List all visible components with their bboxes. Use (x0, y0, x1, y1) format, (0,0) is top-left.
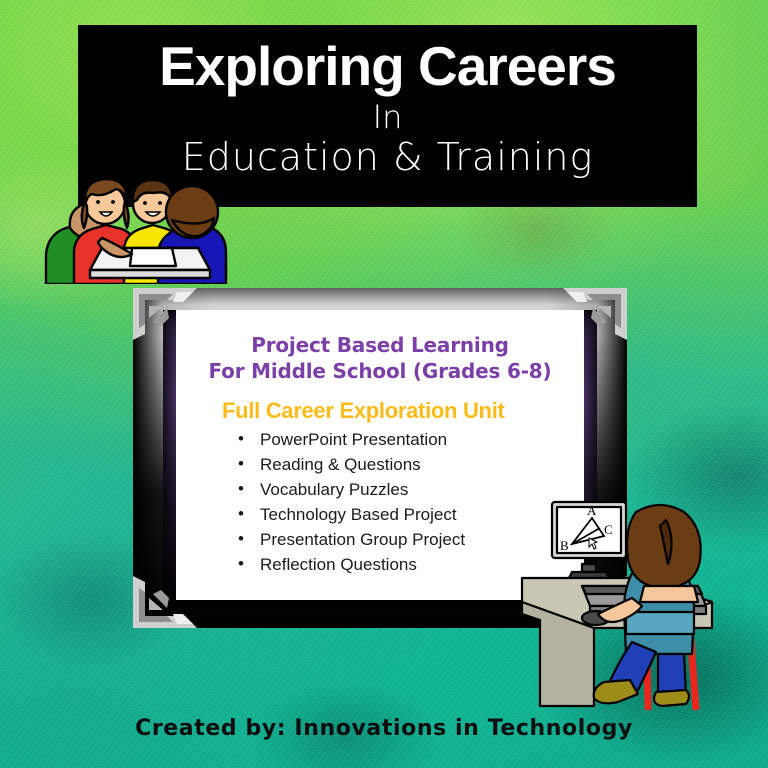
computer-student-illustration: A C B (516, 494, 752, 710)
title-connector-word: In (373, 99, 403, 135)
list-item: Reading & Questions (192, 452, 568, 477)
list-item: Technology Based Project (192, 502, 568, 527)
screen-label-c: C (604, 522, 613, 537)
three-students-at-table-icon (40, 158, 230, 284)
screen-label-b: B (560, 538, 569, 553)
card-bullet-list: PowerPoint Presentation Reading & Questi… (192, 427, 568, 577)
screen-label-a: A (587, 503, 597, 518)
students-group-illustration (40, 158, 230, 284)
page-subtitle: Education & Training (182, 135, 594, 179)
list-item: Reflection Questions (192, 552, 568, 577)
card-gold-heading: Full Career Exploration Unit (222, 397, 568, 425)
credit-line: Created by: Innovations in Technology (0, 716, 768, 741)
student-at-computer-desk-icon: A C B (516, 494, 752, 710)
cover-page: Exploring Careers In Education & Trainin… (0, 0, 768, 768)
card-heading-line-1: Project Based Learning (192, 332, 568, 358)
card-heading-line-2: For Middle School (Grades 6-8) (192, 358, 568, 384)
list-item: Vocabulary Puzzles (192, 477, 568, 502)
list-item: PowerPoint Presentation (192, 427, 568, 452)
list-item: Presentation Group Project (192, 527, 568, 552)
page-title: Exploring Careers (159, 35, 616, 97)
